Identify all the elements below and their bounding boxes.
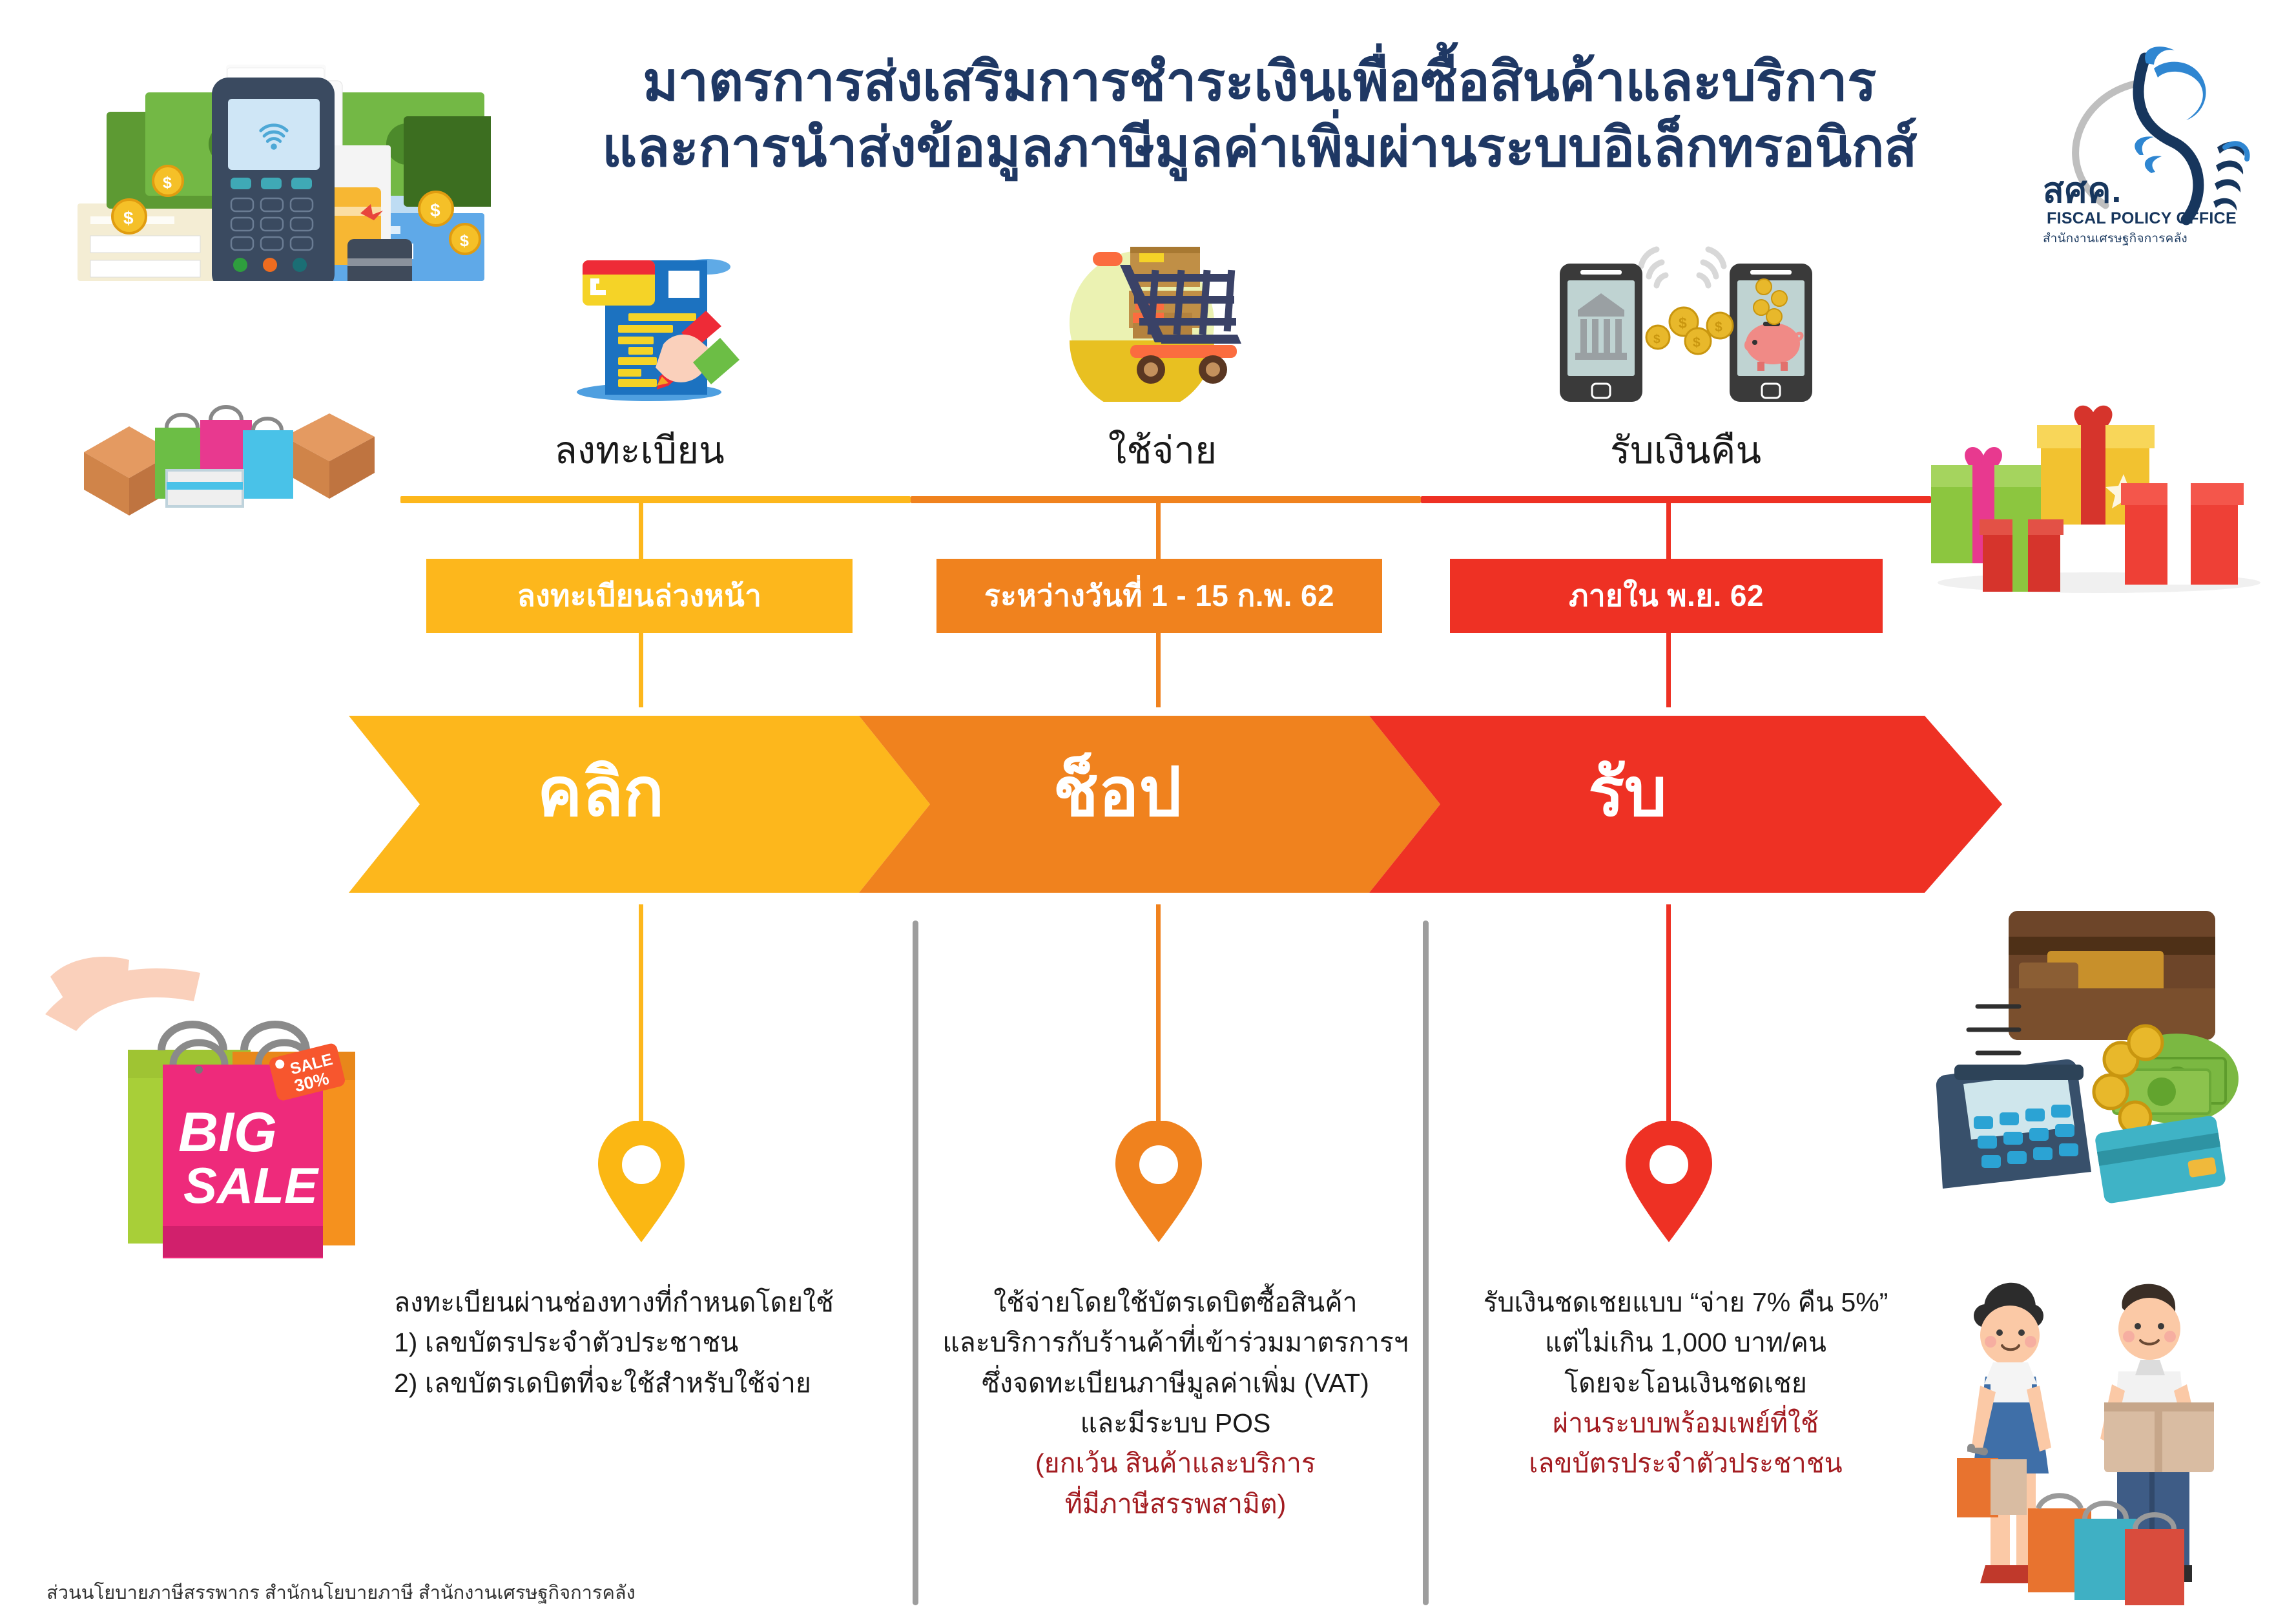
arrow-label-shop-text: ช็อป xyxy=(1053,755,1181,830)
date-chip-register-text: ลงทะเบียนล่วงหน้า xyxy=(517,572,762,619)
big-sale-line1: BIG xyxy=(178,1101,277,1163)
svg-text:$: $ xyxy=(123,208,134,228)
payment-terminal-illustration: BILL $ PAY xyxy=(39,16,491,281)
cashback-line-3: โดยจะโอนเงินชดเชย xyxy=(1421,1363,1950,1403)
timeline-segment-3 xyxy=(1421,496,1931,503)
arrow-label-receive-text: รับ xyxy=(1588,755,1667,830)
timeline-connector-1 xyxy=(639,496,643,567)
register-line-1: ลงทะเบียนผ่านช่องทางที่กำหนดโดยใช้ xyxy=(394,1282,924,1322)
spend-line-2: และบริการกับร้านค้าที่เข้าร่วมมาตรการฯ xyxy=(911,1322,1440,1362)
timeline-segment-1 xyxy=(400,496,911,503)
timeline-connector-2 xyxy=(1156,496,1161,567)
cashback-line-5: เลขบัตรประจำตัวประชาชน xyxy=(1421,1443,1950,1483)
map-pin-cashback xyxy=(1620,1121,1717,1244)
arrow-label-click: คลิก xyxy=(471,759,730,826)
spend-line-4: และมีระบบ POS xyxy=(911,1403,1440,1443)
page-title-line-1: มาตรการส่งเสริมการชำระเงินเพื่อซื้อสินค้… xyxy=(643,51,1876,112)
step-label-register: ลงทะเบียน xyxy=(471,420,807,480)
svg-text:$: $ xyxy=(1715,320,1722,335)
chip-connector-3 xyxy=(1666,633,1671,707)
shopping-bags-box-illustration xyxy=(71,375,407,517)
spend-line-6: ที่มีภาษีสรรพสามิต) xyxy=(911,1484,1440,1524)
big-sale-bags-illustration: BIG SALE SALE 30% xyxy=(39,904,452,1279)
arrow-label-shop: ช็อป xyxy=(988,759,1246,826)
pin-stem-2 xyxy=(1156,904,1161,1130)
footer-credit-text: ส่วนนโยบายภาษีสรรพากร สำนักนโยบายภาษี สำ… xyxy=(47,1583,636,1603)
date-chip-spend-text: ระหว่างวันที่ 1 - 15 ก.พ. 62 xyxy=(984,572,1334,619)
date-chip-spend: ระหว่างวันที่ 1 - 15 ก.พ. 62 xyxy=(936,559,1382,633)
step-label-spend-text: ใช้จ่าย xyxy=(1108,430,1217,472)
page-title-line-2: และการนำส่งข้อมูลภาษีมูลค่าเพิ่มผ่านระบบ… xyxy=(491,114,2028,180)
fpo-thai-name: สำนักงานเศรษฐกิจการคลัง xyxy=(2043,229,2204,248)
date-chip-cashback-text: ภายใน พ.ย. 62 xyxy=(1569,572,1764,619)
footer-credit: ส่วนนโยบายภาษีสรรพากร สำนักนโยบายภาษี สำ… xyxy=(47,1577,636,1607)
spend-line-1: ใช้จ่ายโดยใช้บัตรเดบิตซื้อสินค้า xyxy=(911,1282,1440,1322)
svg-text:$: $ xyxy=(1679,315,1687,331)
arrow-label-receive: รับ xyxy=(1498,759,1757,826)
register-line-3: 2) เลขบัตรเดบิตที่จะใช้สำหรับใช้จ่าย xyxy=(394,1363,924,1403)
mobile-money-transfer-icon: $ $ $ $ xyxy=(1547,240,1818,402)
step-label-cashback: รับเงินคืน xyxy=(1518,420,1854,480)
map-pin-spend xyxy=(1110,1121,1207,1244)
cashback-line-4: ผ่านระบบพร้อมเพย์ที่ใช้ xyxy=(1421,1403,1950,1443)
gift-boxes-illustration xyxy=(1912,381,2273,594)
svg-text:$: $ xyxy=(1693,335,1701,350)
fpo-english-name: FISCAL POLICY OFFICE xyxy=(2047,209,2237,228)
spend-line-5: (ยกเว้น สินค้าและบริการ xyxy=(911,1443,1440,1483)
register-details: ลงทะเบียนผ่านช่องทางที่กำหนดโดยใช้ 1) เล… xyxy=(394,1282,924,1403)
pin-stem-3 xyxy=(1666,904,1671,1130)
spend-details: ใช้จ่ายโดยใช้บัตรเดบิตซื้อสินค้า และบริก… xyxy=(911,1282,1440,1524)
arrow-label-click-text: คลิก xyxy=(537,755,664,830)
date-chip-register: ลงทะเบียนล่วงหน้า xyxy=(426,559,853,633)
cashback-details: รับเงินชดเชยแบบ “จ่าย 7% คืน 5%” แต่ไม่เ… xyxy=(1421,1282,1950,1484)
step-label-cashback-text: รับเงินคืน xyxy=(1610,430,1761,472)
shopping-cart-icon xyxy=(1053,240,1266,402)
registration-form-icon xyxy=(546,242,759,404)
date-chip-cashback: ภายใน พ.ย. 62 xyxy=(1450,559,1883,633)
fpo-logo: สศค. FISCAL POLICY OFFICE สำนักงานเศรษฐก… xyxy=(2031,32,2270,226)
register-line-2: 1) เลขบัตรประจำตัวประชาชน xyxy=(394,1322,924,1362)
step-label-spend: ใช้จ่าย xyxy=(995,420,1330,480)
big-sale-line2: SALE xyxy=(183,1157,319,1214)
cashback-line-1: รับเงินชดเชยแบบ “จ่าย 7% คืน 5%” xyxy=(1421,1282,1950,1322)
chip-connector-2 xyxy=(1156,633,1161,707)
infographic-canvas: BILL $ PAY xyxy=(0,0,2296,1624)
svg-text:$: $ xyxy=(430,200,440,220)
timeline-connector-3 xyxy=(1666,496,1671,567)
svg-text:$: $ xyxy=(163,174,172,192)
shopper-couple-illustration xyxy=(1931,1256,2280,1618)
map-pin-register xyxy=(593,1121,690,1244)
page-title: มาตรการส่งเสริมการชำระเงินเพื่อซื้อสินค้… xyxy=(491,48,2028,181)
pin-stem-1 xyxy=(639,904,643,1130)
spend-line-3: ซึ่งจดทะเบียนภาษีมูลค่าเพิ่ม (VAT) xyxy=(911,1363,1440,1403)
step-label-register-text: ลงทะเบียน xyxy=(554,430,725,472)
fpo-abbr: สศค. xyxy=(2043,173,2204,208)
svg-text:$: $ xyxy=(460,232,469,250)
timeline-segment-2 xyxy=(911,496,1421,503)
cashback-line-2: แต่ไม่เกิน 1,000 บาท/คน xyxy=(1421,1322,1950,1362)
wallet-card-reader-illustration xyxy=(1892,898,2273,1208)
chip-connector-1 xyxy=(639,633,643,707)
svg-text:$: $ xyxy=(1653,333,1660,346)
